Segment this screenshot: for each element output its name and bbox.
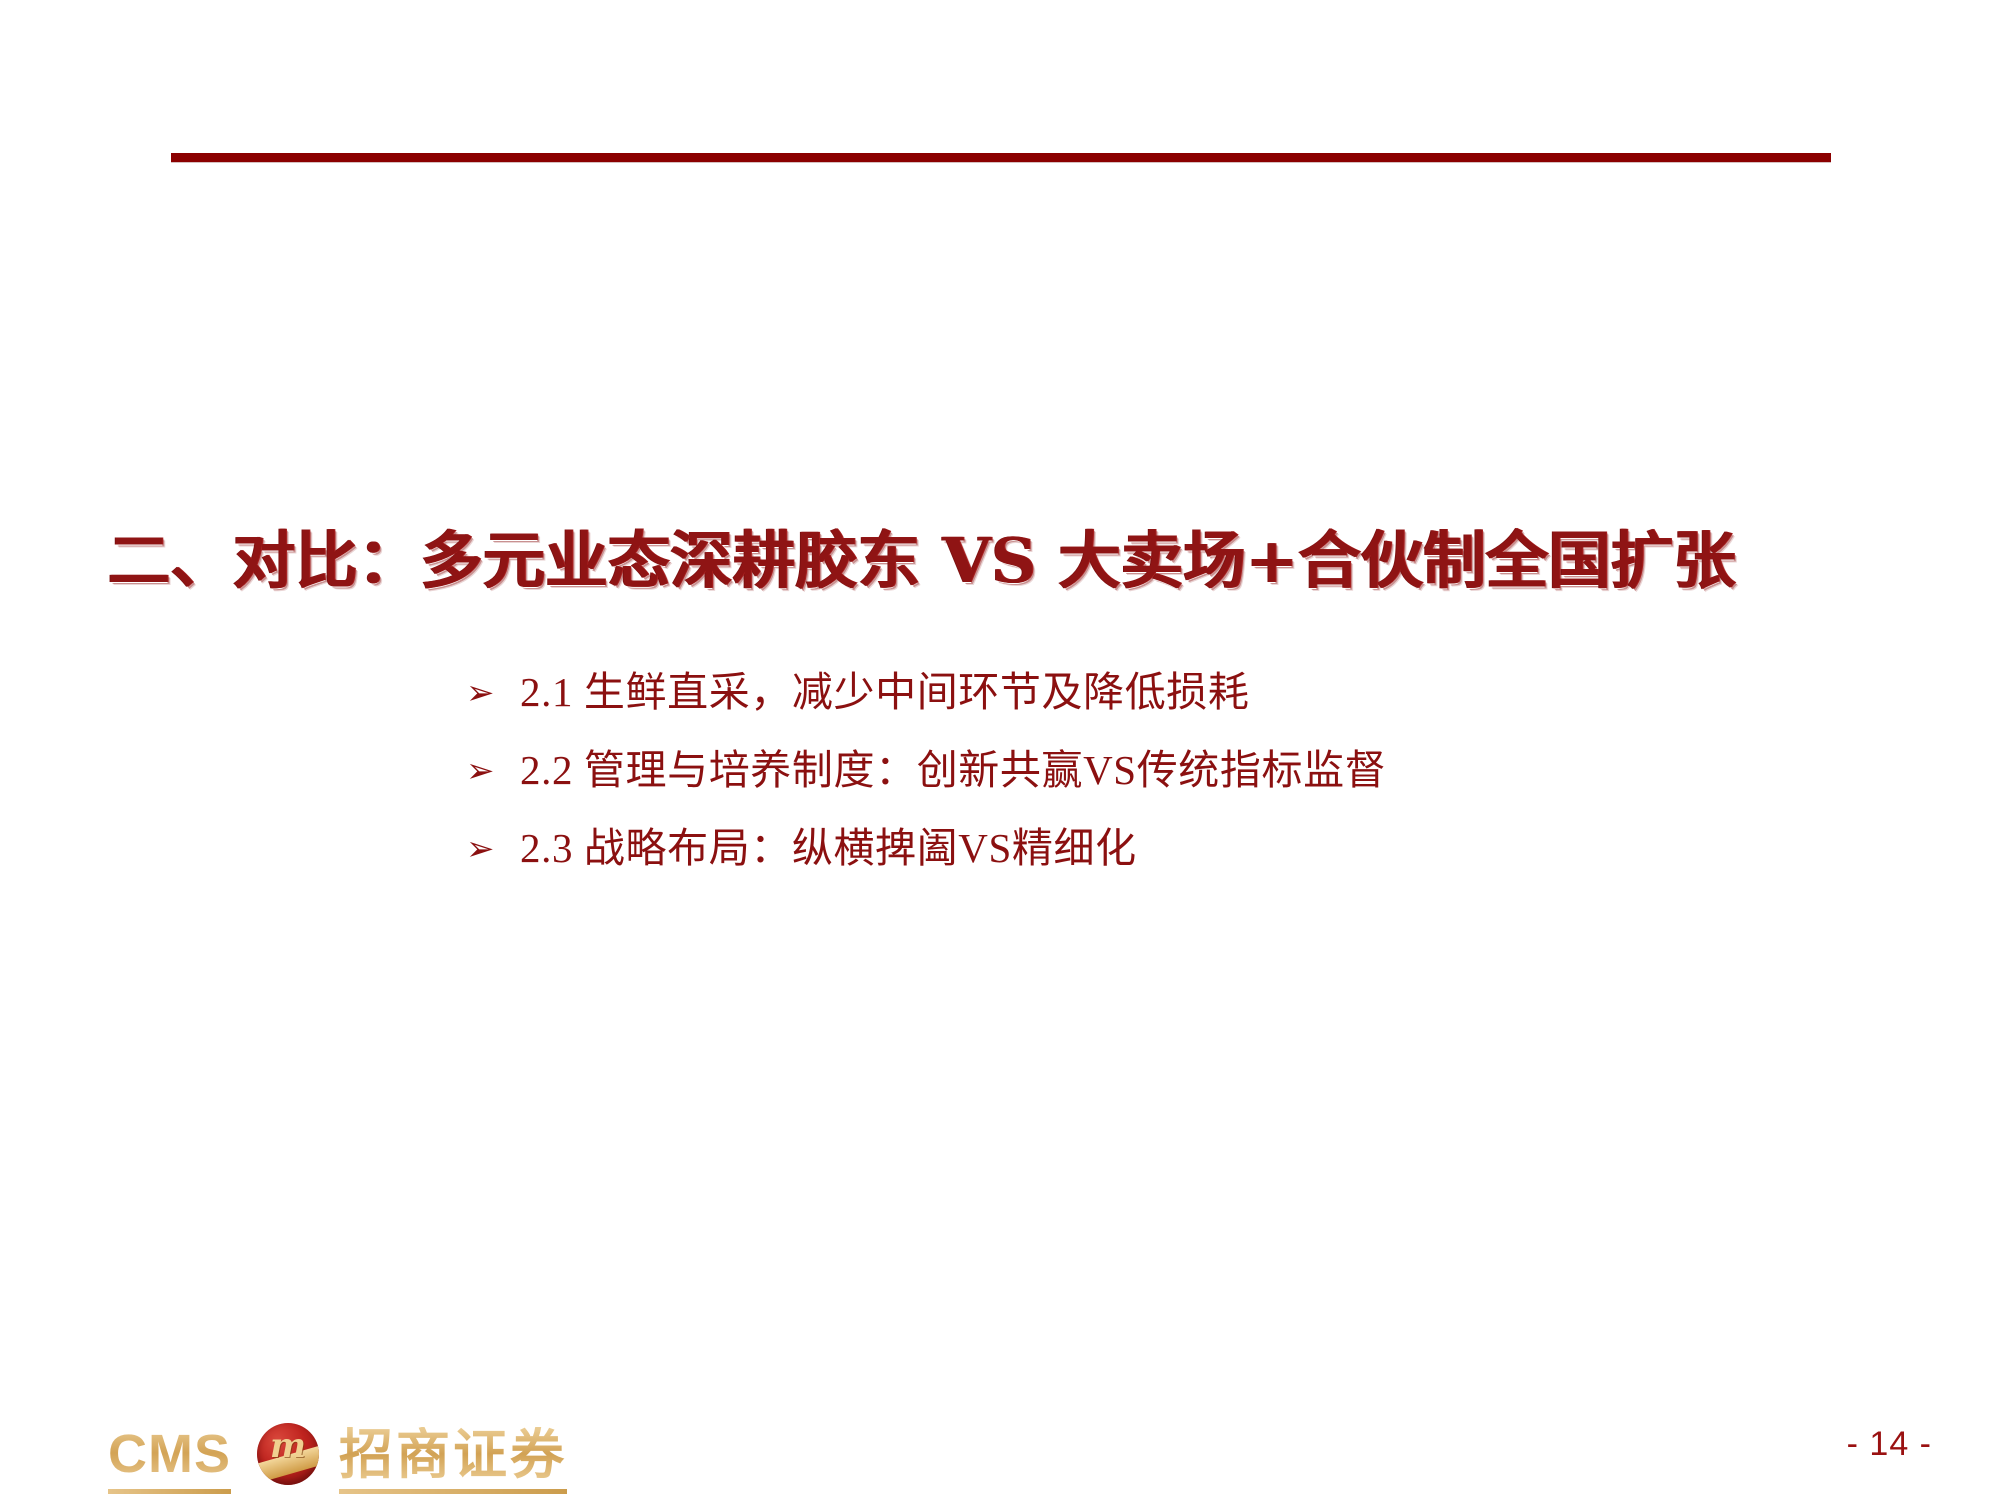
company-logo: CMS m 招商证券 — [108, 1418, 567, 1490]
page-number: - 14 - — [1847, 1425, 1932, 1464]
logo-emblem-mark: m — [257, 1429, 319, 1463]
logo-latin-text: CMS — [108, 1427, 245, 1481]
bullet-list: ➢ 2.1 生鲜直采，减少中间环节及降低损耗 ➢ 2.2 管理与培养制度：创新共… — [466, 672, 1766, 906]
arrow-bullet-icon: ➢ — [466, 832, 520, 866]
list-item-label: 2.3 战略布局：纵横捭阖VS精细化 — [520, 828, 1137, 869]
page-title-text: 二、对比：多元业态深耕胶东 VS 大卖场+合伙制全国扩张 — [108, 529, 1736, 592]
top-divider-rule — [171, 153, 1831, 162]
list-item[interactable]: ➢ 2.1 生鲜直采，减少中间环节及降低损耗 — [466, 672, 1766, 750]
arrow-bullet-icon: ➢ — [466, 754, 520, 788]
presentation-slide: 二、对比：多元业态深耕胶东 VS 大卖场+合伙制全国扩张 ➢ 2.1 生鲜直采，… — [0, 0, 2000, 1500]
list-item[interactable]: ➢ 2.2 管理与培养制度：创新共赢VS传统指标监督 — [466, 750, 1766, 828]
list-item-label: 2.1 生鲜直采，减少中间环节及降低损耗 — [520, 672, 1250, 713]
arrow-bullet-icon: ➢ — [466, 676, 520, 710]
list-item[interactable]: ➢ 2.3 战略布局：纵横捭阖VS精细化 — [466, 828, 1766, 906]
list-item-label: 2.2 管理与培养制度：创新共赢VS传统指标监督 — [520, 750, 1386, 791]
page-title: 二、对比：多元业态深耕胶东 VS 大卖场+合伙制全国扩张 — [108, 518, 1908, 604]
logo-emblem-icon: m — [257, 1423, 319, 1485]
logo-chinese-text: 招商证券 — [331, 1427, 567, 1481]
